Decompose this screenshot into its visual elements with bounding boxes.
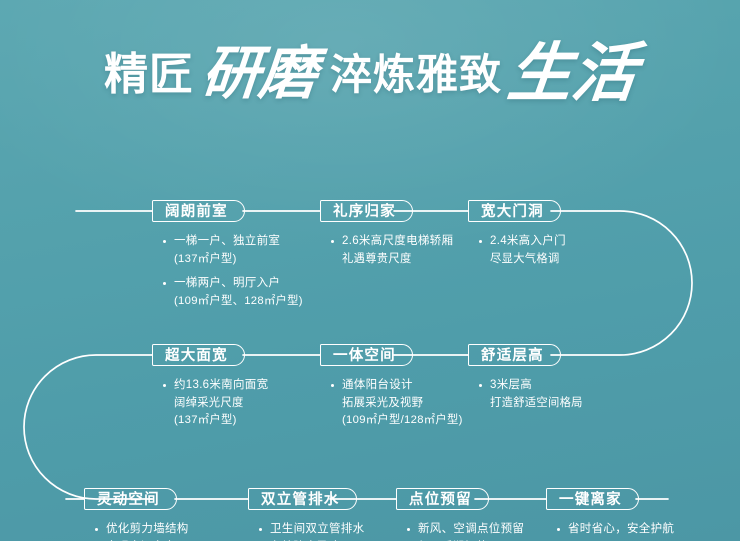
bullet-lead: 3米层高 [478, 377, 583, 395]
bullet-group: 新风、空调点位预留 便于后期加装 [406, 521, 524, 541]
bullet-lead: 2.4米高入户门 [478, 233, 566, 251]
bullet-sub: (137㎡户型) [162, 251, 303, 269]
bullet-group: 优化剪力墙结构 实现空间多变 [94, 521, 189, 541]
bullet-group: 一梯两户、明厅入户 (109㎡户型、128㎡户型) [162, 275, 303, 310]
feature-card-9-title: 点位预留 [396, 488, 489, 510]
feature-card-10-title: 一键离家 [546, 488, 639, 510]
bullet-lead: 卫生间双立管排水 [258, 521, 364, 539]
feature-card-8-bullets: 卫生间双立管排水 有效防止异味 [248, 521, 364, 541]
feature-card-2-bullets: 2.6米高尺度电梯轿厢 礼遇尊贵尺度 [320, 233, 453, 268]
connector-left-uturn [24, 355, 152, 499]
bullet-lead: 优化剪力墙结构 [94, 521, 189, 539]
connector-right-uturn [551, 211, 692, 355]
bullet-lead: 2.6米高尺度电梯轿厢 [330, 233, 453, 251]
feature-card-3-title: 宽大门洞 [468, 200, 561, 222]
feature-card-4-title: 超大面宽 [152, 344, 245, 366]
bullet-lead: 通体阳台设计 [330, 377, 463, 395]
feature-card-9[interactable]: 点位预留 新风、空调点位预留 便于后期加装 [396, 488, 524, 541]
feature-card-2[interactable]: 礼序归家 2.6米高尺度电梯轿厢 礼遇尊贵尺度 [320, 200, 453, 268]
feature-card-6[interactable]: 舒适层高 3米层高 打造舒适空间格局 [468, 344, 583, 412]
bullet-sub: 打造舒适空间格局 [478, 395, 583, 413]
feature-card-5-bullets: 通体阳台设计 拓展采光及视野 (109㎡户型/128㎡户型) [320, 377, 463, 430]
headline-part-2: 研磨 [199, 44, 318, 102]
bullet-sub-2: (109㎡户型/128㎡户型) [330, 412, 463, 430]
bullet-group: 一梯一户、独立前室 (137㎡户型) [162, 233, 303, 268]
feature-card-8-title: 双立管排水 [248, 488, 357, 510]
bullet-group: 通体阳台设计 拓展采光及视野 (109㎡户型/128㎡户型) [330, 377, 463, 430]
feature-card-1[interactable]: 阔朗前室 一梯一户、独立前室 (137㎡户型) 一梯两户、明厅入户 (109㎡户… [152, 200, 303, 310]
feature-card-10-bullets: 省时省心，安全护航 [546, 521, 674, 539]
poster-canvas: 精匠研磨淬炼雅致生活 阔朗前室 一梯一户、独立前室 (137㎡户型) [0, 0, 740, 541]
feature-card-10[interactable]: 一键离家 省时省心，安全护航 [546, 488, 674, 539]
bullet-group: 卫生间双立管排水 有效防止异味 [258, 521, 364, 541]
feature-card-7[interactable]: 灵动空间 优化剪力墙结构 实现空间多变 [84, 488, 189, 541]
bullet-lead: 约13.6米南向面宽 [162, 377, 268, 395]
bullet-sub-2: (137㎡户型) [162, 412, 268, 430]
bullet-sub: 拓展采光及视野 [330, 395, 463, 413]
feature-card-1-title: 阔朗前室 [152, 200, 245, 222]
bullet-group: 2.6米高尺度电梯轿厢 礼遇尊贵尺度 [330, 233, 453, 268]
feature-card-2-title: 礼序归家 [320, 200, 413, 222]
headline-part-4: 生活 [505, 42, 640, 106]
headline-part-1: 精匠 [104, 53, 194, 97]
feature-card-7-title: 灵动空间 [84, 488, 177, 510]
feature-card-4[interactable]: 超大面宽 约13.6米南向面宽 阔绰采光尺度 (137㎡户型) [152, 344, 268, 430]
feature-card-6-bullets: 3米层高 打造舒适空间格局 [468, 377, 583, 412]
feature-card-9-bullets: 新风、空调点位预留 便于后期加装 [396, 521, 524, 541]
headline-part-3: 淬炼雅致 [330, 54, 502, 96]
feature-card-7-bullets: 优化剪力墙结构 实现空间多变 [84, 521, 189, 541]
bullet-lead: 一梯一户、独立前室 [162, 233, 303, 251]
bullet-group: 约13.6米南向面宽 阔绰采光尺度 (137㎡户型) [162, 377, 268, 430]
feature-card-1-bullets: 一梯一户、独立前室 (137㎡户型) 一梯两户、明厅入户 (109㎡户型、128… [152, 233, 303, 310]
bullet-sub: 尽显大气格调 [478, 251, 566, 269]
bullet-group: 2.4米高入户门 尽显大气格调 [478, 233, 566, 268]
feature-card-3[interactable]: 宽大门洞 2.4米高入户门 尽显大气格调 [468, 200, 566, 268]
bullet-sub: 阔绰采光尺度 [162, 395, 268, 413]
page-title: 精匠研磨淬炼雅致生活 [0, 36, 740, 100]
bullet-lead: 新风、空调点位预留 [406, 521, 524, 539]
feature-card-3-bullets: 2.4米高入户门 尽显大气格调 [468, 233, 566, 268]
feature-card-6-title: 舒适层高 [468, 344, 561, 366]
bullet-lead: 一梯两户、明厅入户 [162, 275, 303, 293]
feature-card-4-bullets: 约13.6米南向面宽 阔绰采光尺度 (137㎡户型) [152, 377, 268, 430]
bullet-sub: 礼遇尊贵尺度 [330, 251, 453, 269]
bullet-group: 3米层高 打造舒适空间格局 [478, 377, 583, 412]
feature-card-5[interactable]: 一体空间 通体阳台设计 拓展采光及视野 (109㎡户型/128㎡户型) [320, 344, 463, 430]
feature-card-8[interactable]: 双立管排水 卫生间双立管排水 有效防止异味 [248, 488, 364, 541]
feature-card-5-title: 一体空间 [320, 344, 413, 366]
bullet-sub: (109㎡户型、128㎡户型) [162, 293, 303, 311]
bullet-group: 省时省心，安全护航 [556, 521, 674, 539]
bullet-lead: 省时省心，安全护航 [556, 521, 674, 539]
